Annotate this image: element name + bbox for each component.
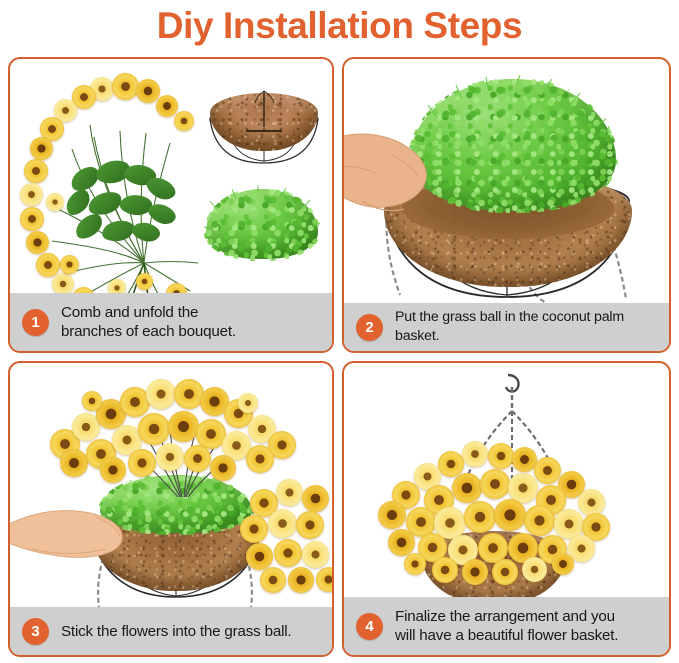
step-panel-1[interactable]: 1 Comb and unfold the branches of each b… (8, 57, 334, 353)
step-1-badge: 1 (22, 309, 49, 336)
steps-grid: 1 Comb and unfold the branches of each b… (8, 57, 671, 657)
step-1-caption: 1 Comb and unfold the branches of each b… (10, 293, 332, 351)
page-title: Diy Installation Steps (0, 0, 679, 52)
grass-ball (202, 183, 322, 263)
step-2-caption: 2 Put the grass ball in the coconut palm… (344, 303, 669, 351)
step-1-text: Comb and unfold the branches of each bou… (61, 303, 236, 341)
hand (344, 115, 468, 235)
step-4-line-1: Finalize the arrangement and you (395, 607, 618, 626)
hand (12, 493, 142, 569)
step-1-line-1: Comb and unfold the (61, 303, 236, 322)
step-4-badge: 4 (356, 613, 383, 640)
step-2-badge: 2 (356, 314, 383, 341)
step-3-badge: 3 (22, 618, 49, 645)
step-3-text: Stick the flowers into the grass ball. (61, 622, 291, 641)
step-4-caption: 4 Finalize the arrangement and you will … (344, 597, 669, 655)
step-2-text: Put the grass ball in the coconut palm b… (395, 308, 659, 346)
step-panel-3[interactable]: 3 Stick the flowers into the grass ball. (8, 361, 334, 657)
step-panel-4[interactable]: 4 Finalize the arrangement and you will … (342, 361, 671, 657)
step-4-line-2: will have a beautiful flower basket. (395, 626, 618, 645)
step-3-caption: 3 Stick the flowers into the grass ball. (10, 607, 332, 655)
sunflower-bunch (42, 373, 302, 483)
step-1-line-2: branches of each bouquet. (61, 322, 236, 341)
sunflower-bunch-secondary (232, 471, 332, 601)
step-4-text: Finalize the arrangement and you will ha… (395, 607, 618, 645)
coconut-palm-basket (206, 87, 322, 165)
sunflower-basket-finished (366, 441, 628, 571)
infographic-page: Diy Installation Steps (0, 0, 679, 663)
step-panel-2[interactable]: 2 Put the grass ball in the coconut palm… (342, 57, 671, 353)
